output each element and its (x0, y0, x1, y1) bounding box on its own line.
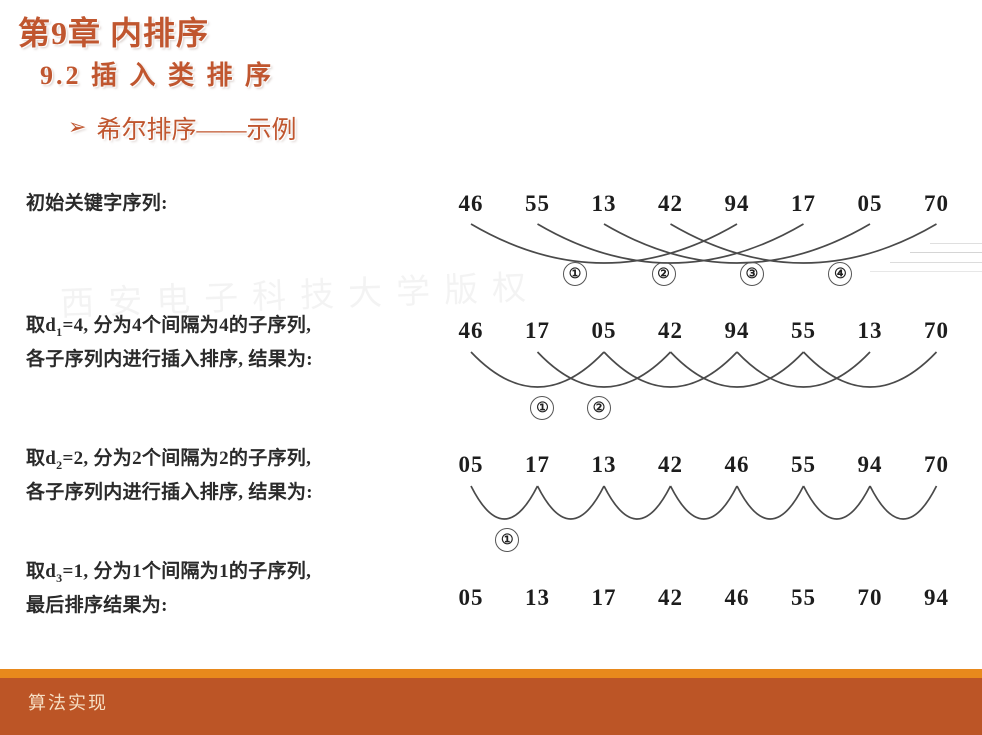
caption-d3-line1: 取d3=1, 分为1个间隔为1的子序列, (26, 558, 311, 592)
caption-d3: 取d3=1, 分为1个间隔为1的子序列, 最后排序结果为: (26, 558, 311, 619)
sequence-value: 17 (784, 191, 824, 217)
bullet-heading: ➢ 希尔排序——示例 (68, 110, 296, 146)
sequence-value: 13 (850, 318, 890, 344)
connector-arc (538, 352, 671, 387)
sequence-value: 13 (584, 452, 624, 478)
sequence-value: 42 (651, 318, 691, 344)
sequence-value: 94 (717, 191, 757, 217)
sequence-value: 05 (584, 318, 624, 344)
connector-arc (870, 486, 937, 519)
connector-arc (604, 224, 870, 263)
sequence-value: 46 (717, 585, 757, 611)
connector-arc (737, 352, 870, 387)
connector-arc (804, 486, 871, 519)
sequence-value: 70 (917, 191, 957, 217)
sequence-value: 94 (717, 318, 757, 344)
step-marker: ② (652, 262, 676, 286)
connector-arc (471, 352, 604, 387)
section-title: 9.2 插 入 类 排 序 (40, 55, 274, 92)
sequence-value: 94 (850, 452, 890, 478)
arc-group-d1 (0, 350, 982, 398)
connector-arc (604, 352, 737, 387)
sequence-value: 46 (717, 452, 757, 478)
bullet-heading-label: 希尔排序——示例 (96, 110, 296, 146)
caption-d1-line1: 取d1=4, 分为4个间隔为4的子序列, (26, 312, 313, 346)
connector-arc (471, 224, 737, 263)
step-marker: ① (563, 262, 587, 286)
sequence-value: 13 (518, 585, 558, 611)
arc-group-d2 (0, 484, 982, 532)
sequence-value: 55 (784, 452, 824, 478)
sequence-value: 42 (651, 452, 691, 478)
scan-artifact-line (870, 271, 982, 272)
sequence-value: 55 (518, 191, 558, 217)
caption-initial-line1: 初始关键字序列: (26, 190, 168, 217)
sequence-value: 46 (451, 191, 491, 217)
footer-stripe (0, 669, 982, 678)
step-marker: ① (530, 396, 554, 420)
connector-arc (538, 486, 605, 519)
arrow-bullet-icon: ➢ (68, 116, 86, 138)
sequence-value: 17 (584, 585, 624, 611)
caption-d3-line2: 最后排序结果为: (26, 592, 311, 619)
slide-canvas: 第9章 内排序 9.2 插 入 类 排 序 ➢ 希尔排序——示例 西安电子科技大… (0, 0, 982, 735)
sequence-value: 05 (451, 585, 491, 611)
connector-arc (471, 486, 538, 519)
connector-arc (737, 486, 804, 519)
sequence-value: 17 (518, 452, 558, 478)
sequence-value: 05 (850, 191, 890, 217)
scan-artifact-line (930, 243, 982, 244)
footer-label: 算法实现 (28, 689, 108, 715)
connector-arc (671, 224, 937, 263)
sequence-value: 17 (518, 318, 558, 344)
caption-initial: 初始关键字序列: (26, 190, 168, 217)
caption-d2-line1: 取d2=2, 分为2个间隔为2的子序列, (26, 445, 313, 479)
sequence-value: 05 (451, 452, 491, 478)
step-marker: ① (495, 528, 519, 552)
sequence-value: 70 (917, 452, 957, 478)
sequence-value: 55 (784, 585, 824, 611)
step-marker: ② (587, 396, 611, 420)
sequence-value: 55 (784, 318, 824, 344)
sequence-value: 42 (651, 191, 691, 217)
sequence-value: 42 (651, 585, 691, 611)
sequence-value: 94 (917, 585, 957, 611)
scan-artifact-line (910, 252, 982, 253)
connector-arc (671, 352, 804, 387)
connector-arc (538, 224, 804, 263)
footer-bar: 算法实现 (0, 678, 982, 735)
step-marker: ③ (740, 262, 764, 286)
scan-artifact-line (890, 262, 982, 263)
step-marker: ④ (828, 262, 852, 286)
sequence-value: 13 (584, 191, 624, 217)
connector-arc (671, 486, 738, 519)
sequence-value: 46 (451, 318, 491, 344)
page-title: 第9章 内排序 (18, 8, 209, 54)
connector-arc (804, 352, 937, 387)
sequence-value: 70 (917, 318, 957, 344)
sequence-value: 70 (850, 585, 890, 611)
connector-arc (604, 486, 671, 519)
